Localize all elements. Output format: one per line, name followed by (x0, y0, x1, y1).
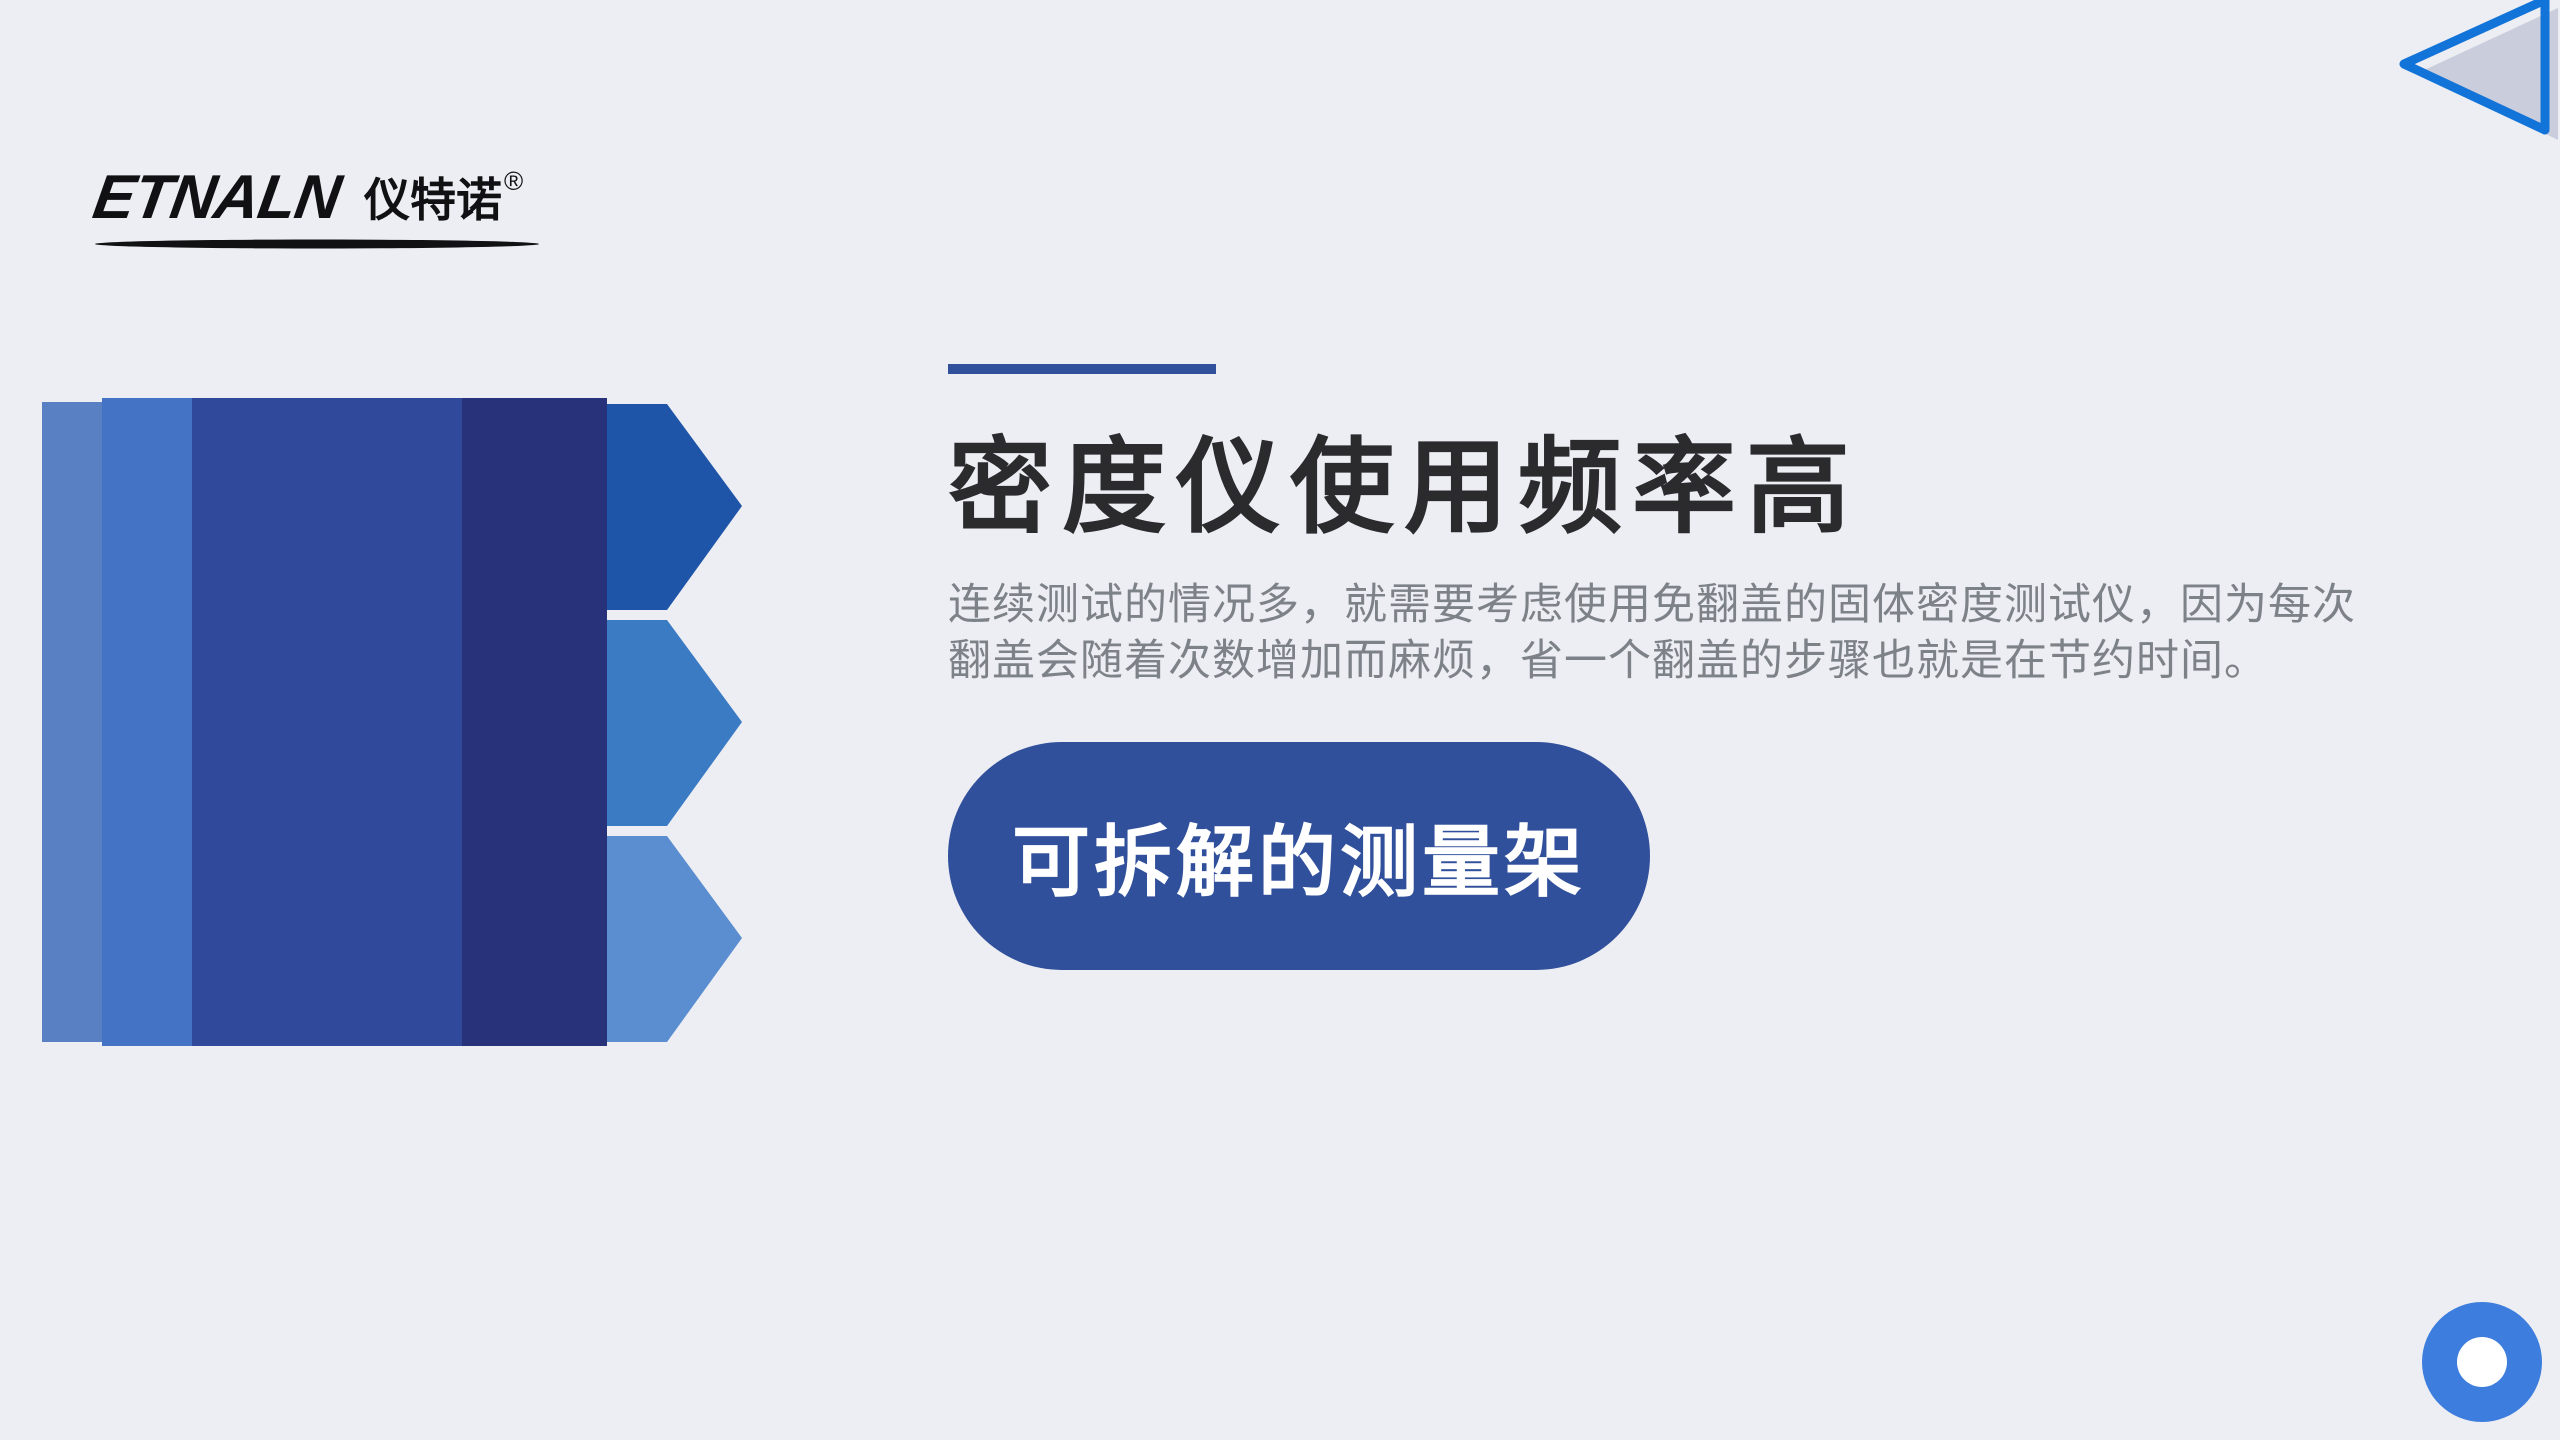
brand-logo: ETNALN 仪特诺 ® (92, 160, 612, 250)
triangle-left-outline-icon (2390, 0, 2560, 144)
bar-3 (192, 398, 462, 1046)
chevron-2 (607, 620, 742, 826)
body-paragraph: 连续测试的情况多，就需要考虑使用免翻盖的固体密度测试仪，因为每次翻盖会随着次数增… (948, 578, 2368, 690)
accent-rule (948, 364, 1216, 374)
logo-cn-text: 仪特诺 (363, 174, 502, 226)
content-column: 密度仪使用频率高 连续测试的情况多，就需要考虑使用免翻盖的固体密度测试仪，因为每… (948, 364, 2368, 970)
chevron-3 (607, 836, 742, 1042)
banner-stage: ETNALN 仪特诺 ® 密度仪使用频率高 连续测试的情况多，就需要考虑使用免翻… (0, 0, 2560, 1440)
ring-core (2457, 1337, 2507, 1387)
cta-button[interactable]: 可拆解的测量架 (948, 742, 1650, 970)
page-title: 密度仪使用频率高 (948, 432, 2368, 544)
bar-4 (462, 398, 607, 1046)
logo-latin-text: ETNALN (92, 163, 348, 232)
chevron-1 (607, 404, 742, 610)
bar-1 (42, 402, 102, 1042)
bar-2 (102, 398, 192, 1046)
logo-registered-mark: ® (504, 166, 523, 196)
decorative-bars-graphic (42, 398, 742, 1046)
ring-circle-icon (2422, 1302, 2542, 1422)
